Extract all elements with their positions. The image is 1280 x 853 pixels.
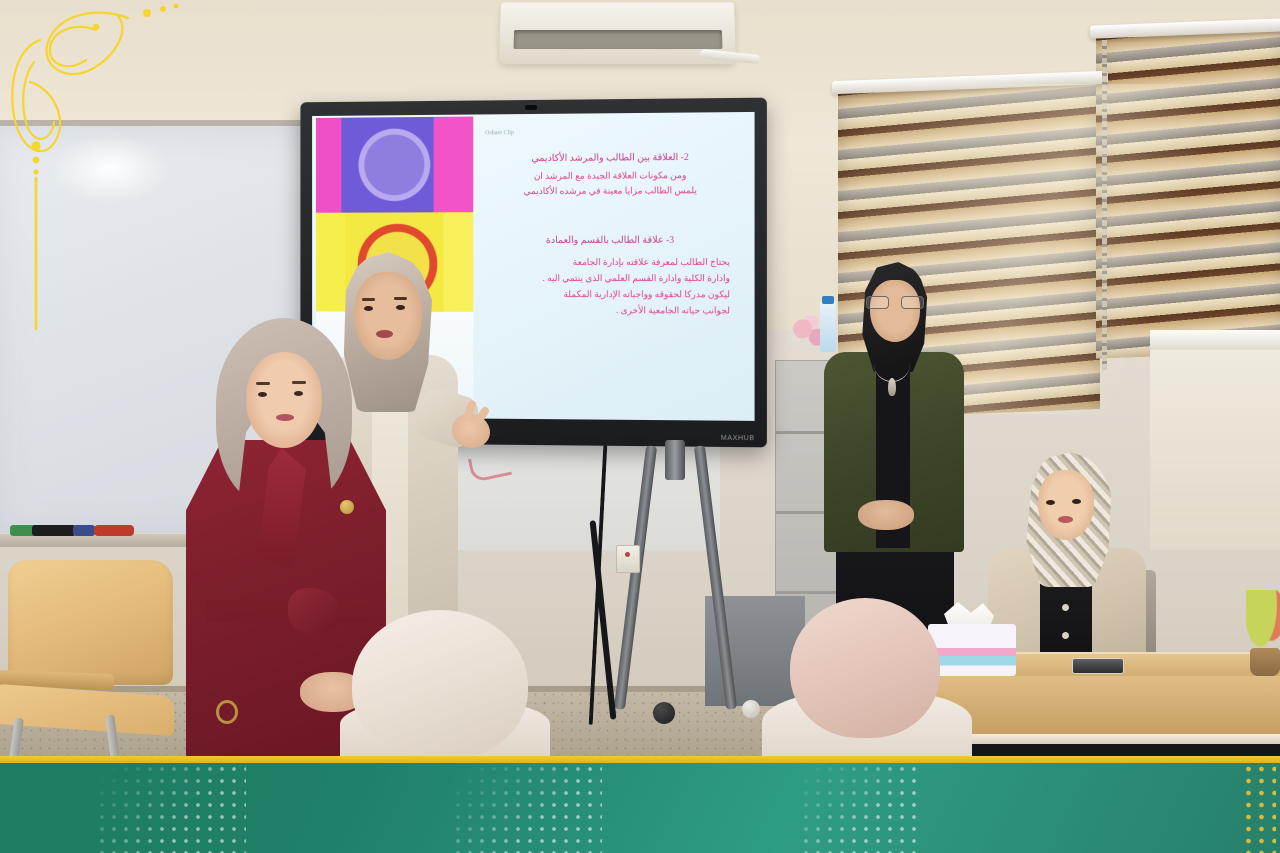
display-stand-pole: [665, 440, 685, 480]
speaker-eye-left: [258, 392, 267, 397]
footer-gold-divider: [0, 756, 1280, 763]
attendee-seated-eye-left: [1046, 500, 1055, 505]
window-wall-panel: [1150, 350, 1280, 550]
attendee-seated-eye-right: [1072, 499, 1081, 504]
water-bottle-cap: [822, 296, 834, 304]
water-bottle: [820, 300, 836, 352]
slide-s3-line4: لجوانب حياته الجامعية الأخرى .: [477, 303, 744, 319]
slide-s3-line1: يحتاج الطالب لمعرفة علاقته بإدارة الجامع…: [477, 255, 744, 271]
presenter-pointing-eye-right: [396, 305, 405, 310]
event-photograph: Oshare Clip 2- العلاقة بين الطالب والمرش…: [0, 0, 1280, 756]
slide-clock-image-purple: [316, 117, 473, 213]
eyeglasses-icon: [866, 296, 924, 309]
attendee-seated-face: [1038, 470, 1094, 540]
attendee-seated-lips: [1058, 516, 1073, 523]
presenter-pointing-eye-left: [364, 306, 373, 311]
eyeglasses-lens-left: [866, 296, 889, 309]
attendee-standing-pendant: [888, 378, 896, 396]
slide-heading-2: 2- العلاقة بين الطالب والمرشد الأكاديمي: [477, 150, 744, 167]
attendee-standing-necklace-chain: [874, 346, 910, 382]
display-brand-label: MAXHUB: [721, 435, 755, 442]
attendee-seated-button-3: [1062, 632, 1069, 639]
speaker-brow-right: [292, 381, 306, 384]
marker-blue: [73, 525, 95, 536]
attendee-seated-button-2: [1062, 604, 1069, 611]
eyeglasses-lens-right: [901, 296, 924, 309]
slide-s3-line3: ليكون مدركا لحقوقه وواجباته الإدارية الم…: [477, 287, 744, 303]
eraser-red: [94, 525, 134, 536]
socket-indicator-icon: [625, 552, 630, 557]
window-sill: [1150, 330, 1280, 352]
presenter-pointing-face: [354, 272, 422, 360]
slide-heading-3: 3- علاقة الطالب بالقسم والعمادة: [477, 234, 744, 250]
tissue-box: [928, 624, 1016, 676]
presenter-pointing-lips: [376, 330, 393, 338]
speaker-lips: [276, 414, 294, 421]
screenshot-root: Oshare Clip 2- العلاقة بين الطالب والمرش…: [0, 0, 1280, 853]
speaker-coat-ring-detail: [216, 700, 238, 724]
slide-s2-line2: يلمس الطالب مزايا معينة في مرشده الأكادي…: [477, 183, 744, 200]
halftone-dots-middle: [452, 763, 602, 853]
footer-banner: جامعة تكريت - كلية التربية للبنات Tikrit…: [0, 763, 1280, 853]
slide-text-body: Oshare Clip 2- العلاقة بين الطالب والمرش…: [477, 122, 744, 413]
halftone-dots-gold-edge: [1242, 763, 1276, 853]
display-stand-caster-right: [742, 700, 760, 718]
halftone-dots-left: [96, 763, 246, 853]
slide-s3-line2: وادارة الكلية وادارة القسم العلمي الذي ي…: [477, 271, 744, 287]
speaker-brooch: [340, 500, 354, 514]
speaker-face: [246, 352, 322, 448]
foreground-attendee-1-head: [352, 610, 528, 756]
wall-socket: [616, 545, 640, 573]
speaker-eye-right: [294, 391, 303, 396]
display-camera-icon: [525, 105, 537, 110]
blind-cord: [1102, 40, 1107, 370]
speaker-brow-left: [256, 382, 270, 385]
slide-s2-line1: ومن مكونات العلاقة الجيدة مع المرشد ان: [477, 167, 744, 184]
foreground-attendee-2-head: [790, 598, 940, 738]
attendee-standing-face: [870, 280, 920, 342]
desk-plant-pot: [1250, 648, 1280, 676]
classroom-chair-back: [8, 560, 173, 685]
slide-spacer: [477, 199, 744, 234]
mobile-phone: [1072, 658, 1124, 674]
presenter-pointing-brow-left: [362, 298, 375, 301]
halftone-dots-right: [800, 763, 920, 853]
window-blind-right: [1096, 26, 1280, 358]
attendee-standing-hands: [858, 500, 914, 530]
slide-watermark: Oshare Clip: [485, 130, 514, 136]
speaker-maroon-coat-belt-knot: [288, 588, 340, 634]
ac-vent-icon: [514, 30, 723, 49]
marker-black: [32, 525, 76, 536]
presenter-pointing-brow-right: [394, 297, 407, 300]
display-stand-caster-left: [653, 702, 675, 724]
